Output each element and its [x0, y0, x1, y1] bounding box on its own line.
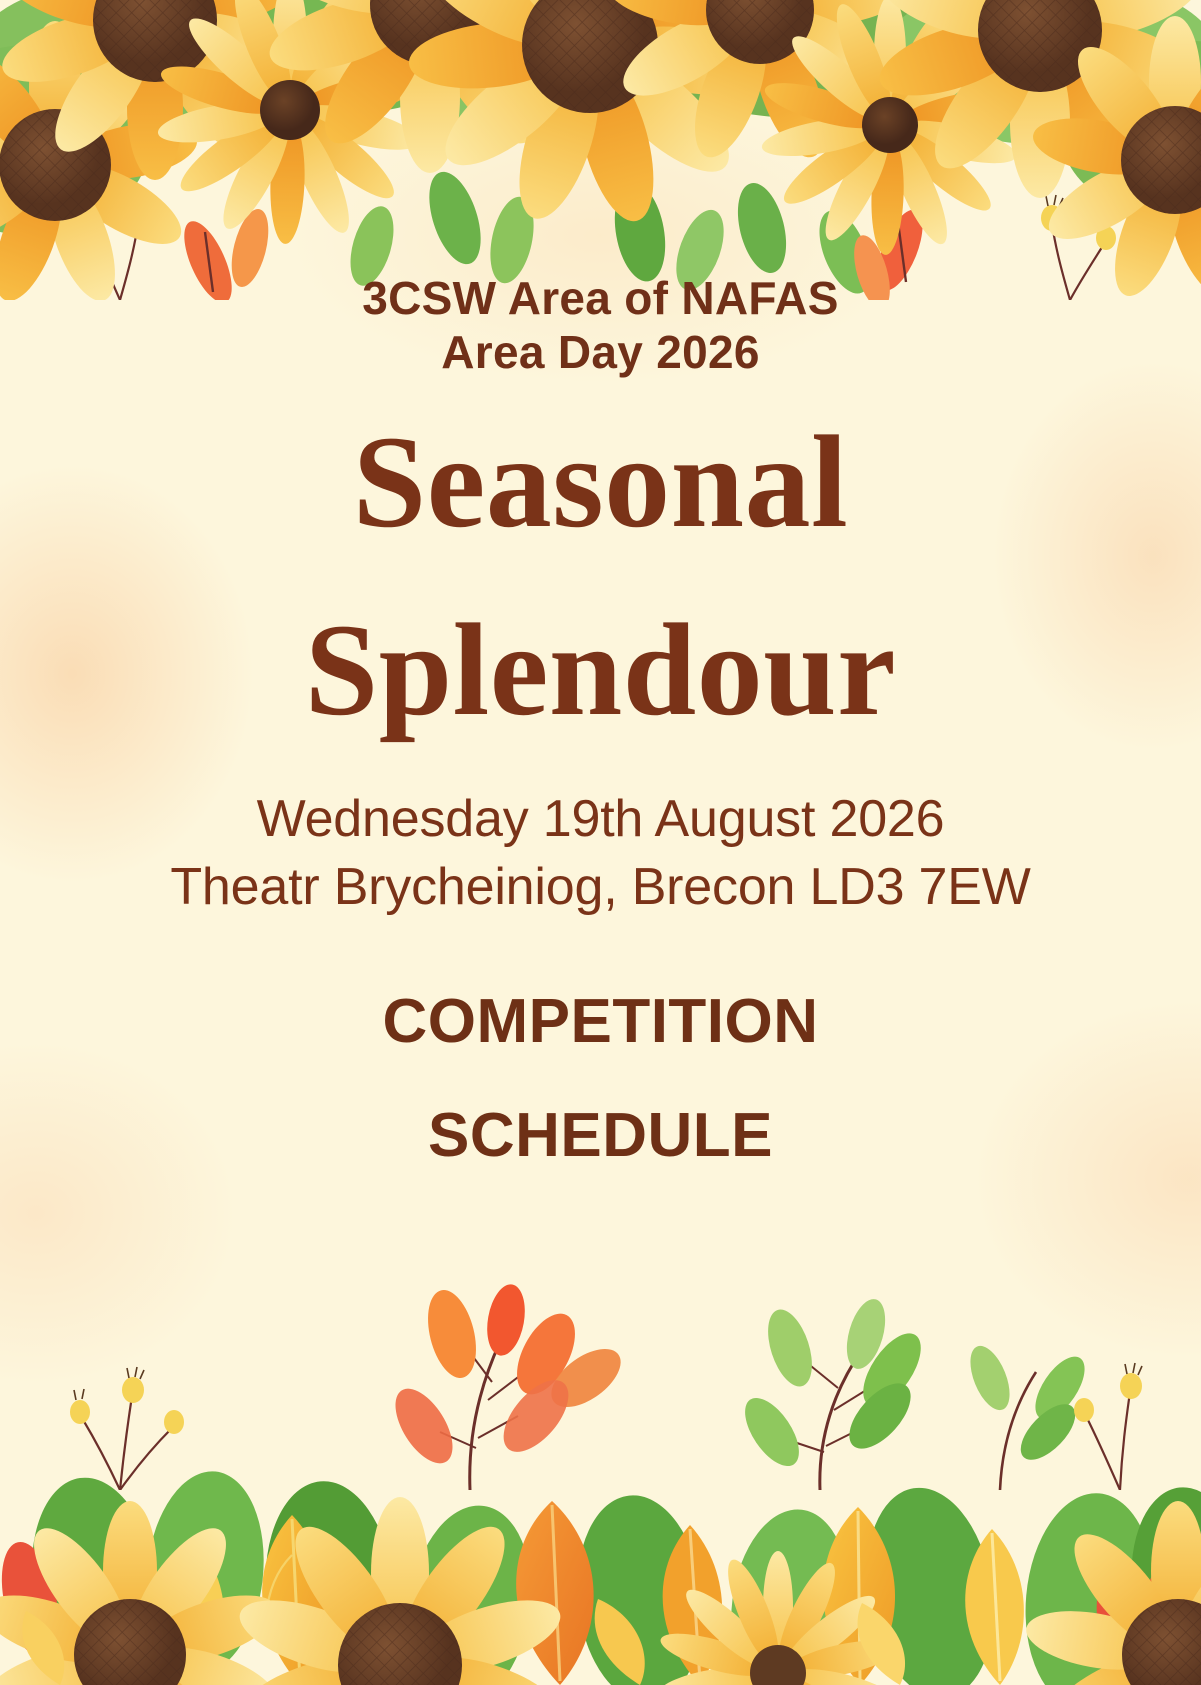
autumn-foliage-border-bottom-icon	[0, 1355, 1201, 1685]
poster-text-block: 3CSW Area of NAFAS Area Day 2026 Seasona…	[0, 272, 1201, 1167]
sunflower-border-top-icon	[0, 0, 1201, 300]
headline-word-seasonal: Seasonal	[40, 416, 1161, 548]
headline-word-splendour: Splendour	[40, 604, 1161, 736]
event-date: Wednesday 19th August 2026	[40, 786, 1161, 853]
event-venue: Theatr Brycheiniog, Brecon LD3 7EW	[40, 854, 1161, 921]
banner-line-competition: COMPETITION	[40, 991, 1161, 1053]
leaf-sprig-cluster-icon	[0, 1210, 1201, 1490]
banner-line-schedule: SCHEDULE	[40, 1105, 1161, 1167]
organisation-line-1: 3CSW Area of NAFAS	[40, 272, 1161, 326]
organisation-line-2: Area Day 2026	[40, 326, 1161, 380]
poster-canvas: 3CSW Area of NAFAS Area Day 2026 Seasona…	[0, 0, 1201, 1685]
